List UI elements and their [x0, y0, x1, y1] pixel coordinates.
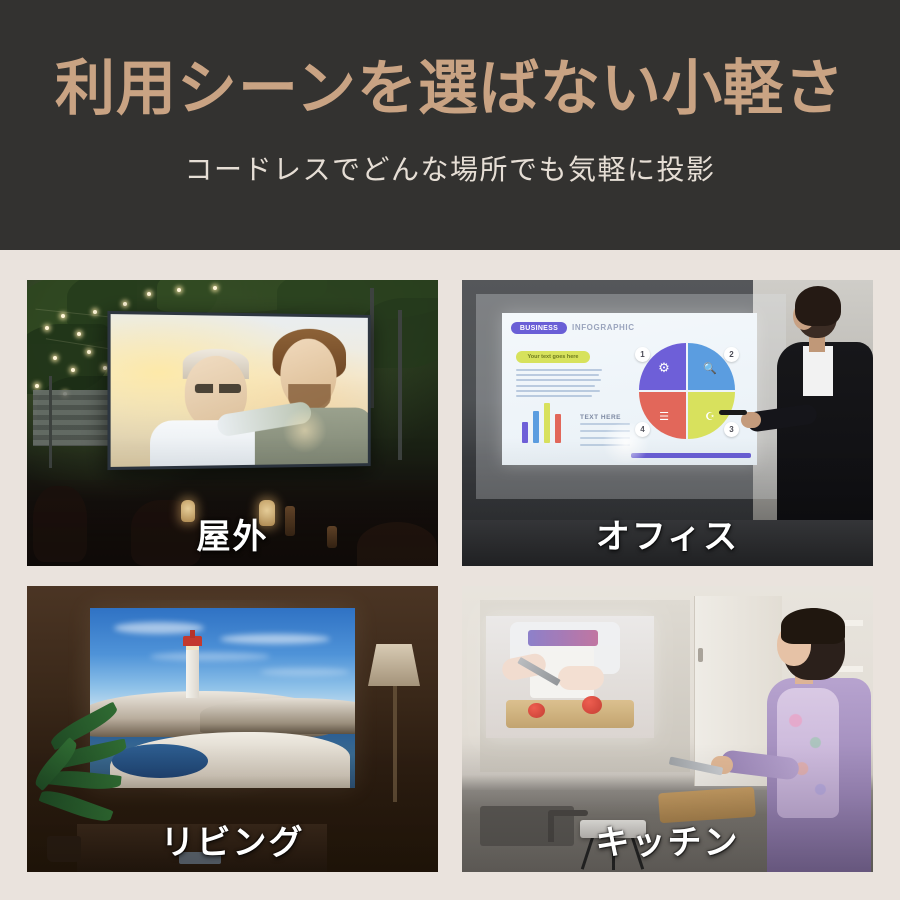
page-subtitle: コードレスでどんな場所でも気軽に投影	[184, 148, 715, 188]
scene-card-kitchen[interactable]: キッチン	[462, 586, 873, 872]
page-header: 利用シーンを選ばない小軽さ コードレスでどんな場所でも気軽に投影	[0, 0, 900, 250]
living-photo	[27, 586, 438, 872]
scene-card-office[interactable]: BUSINESS INFOGRAPHIC Your text goes here…	[462, 280, 873, 566]
scene-grid: 屋外 BUSINESS INFOGRAPHIC Your text goes h…	[27, 280, 873, 872]
page-title: 利用シーンを選ばない小軽さ	[55, 56, 845, 122]
vignette	[27, 586, 438, 872]
office-photo: BUSINESS INFOGRAPHIC Your text goes here…	[462, 280, 873, 566]
promo-page: 利用シーンを選ばない小軽さ コードレスでどんな場所でも気軽に投影	[0, 0, 900, 900]
scene-card-outdoor[interactable]: 屋外	[27, 280, 438, 566]
vignette	[462, 280, 873, 566]
vignette	[462, 586, 873, 872]
scene-card-living[interactable]: リビング	[27, 586, 438, 872]
vignette	[27, 280, 438, 566]
kitchen-photo	[462, 586, 873, 872]
outdoor-photo	[27, 280, 438, 566]
